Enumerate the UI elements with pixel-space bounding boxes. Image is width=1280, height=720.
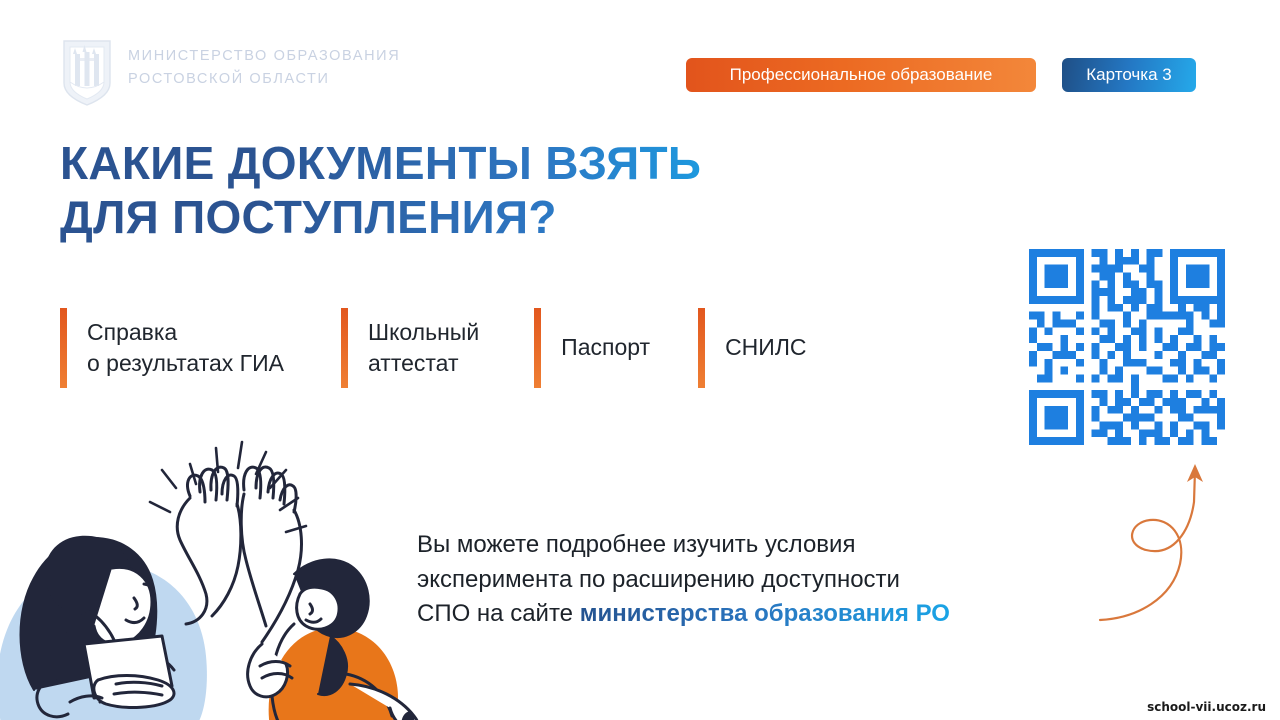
slide-root: МИНИСТЕРСТВО ОБРАЗОВАНИЯ РОСТОВСКОЙ ОБЛА… bbox=[0, 0, 1280, 720]
list-item: СНИЛС bbox=[698, 308, 806, 388]
page-title: КАКИЕ ДОКУМЕНТЫ ВЗЯТЬ ДЛЯ ПОСТУПЛЕНИЯ? bbox=[60, 137, 880, 245]
qr-code-icon[interactable] bbox=[1029, 249, 1225, 445]
bar-marker-icon bbox=[341, 308, 348, 388]
list-item: Справка о результатах ГИА bbox=[60, 308, 284, 388]
bar-marker-icon bbox=[534, 308, 541, 388]
ministry-link[interactable]: министерства образования РО bbox=[580, 600, 950, 627]
brand-title: МИНИСТЕРСТВО ОБРАЗОВАНИЯ РОСТОВСКОЙ ОБЛА… bbox=[128, 38, 400, 92]
coat-of-arms-icon bbox=[60, 38, 114, 108]
document-label: Школьный аттестат bbox=[368, 317, 479, 380]
description-line-2: эксперимента по расширению доступности bbox=[417, 563, 1117, 598]
description-line-3-prefix: СПО на сайте bbox=[417, 600, 580, 627]
document-label: Справка о результатах ГИА bbox=[87, 317, 284, 380]
bar-marker-icon bbox=[698, 308, 705, 388]
description-line-3: СПО на сайте министерства образования РО bbox=[417, 597, 1117, 632]
description-line-1: Вы можете подробнее изучить условия bbox=[417, 528, 1117, 563]
list-item: Паспорт bbox=[534, 308, 650, 388]
document-label: Паспорт bbox=[561, 332, 650, 363]
bar-marker-icon bbox=[60, 308, 67, 388]
list-item: Школьный аттестат bbox=[341, 308, 479, 388]
watermark: school-vii.ucoz.ru bbox=[1147, 700, 1266, 714]
brand-block: МИНИСТЕРСТВО ОБРАЗОВАНИЯ РОСТОВСКОЙ ОБЛА… bbox=[60, 38, 400, 108]
documents-list: Справка о результатах ГИА Школьный аттес… bbox=[60, 308, 807, 388]
badge-card-number[interactable]: Карточка 3 bbox=[1062, 58, 1196, 92]
high-five-illustration bbox=[0, 398, 444, 720]
document-label: СНИЛС bbox=[725, 332, 806, 363]
curved-arrow-icon bbox=[1098, 448, 1278, 630]
badge-category[interactable]: Профессиональное образование bbox=[686, 58, 1036, 92]
description-text: Вы можете подробнее изучить условия эксп… bbox=[417, 528, 1117, 632]
